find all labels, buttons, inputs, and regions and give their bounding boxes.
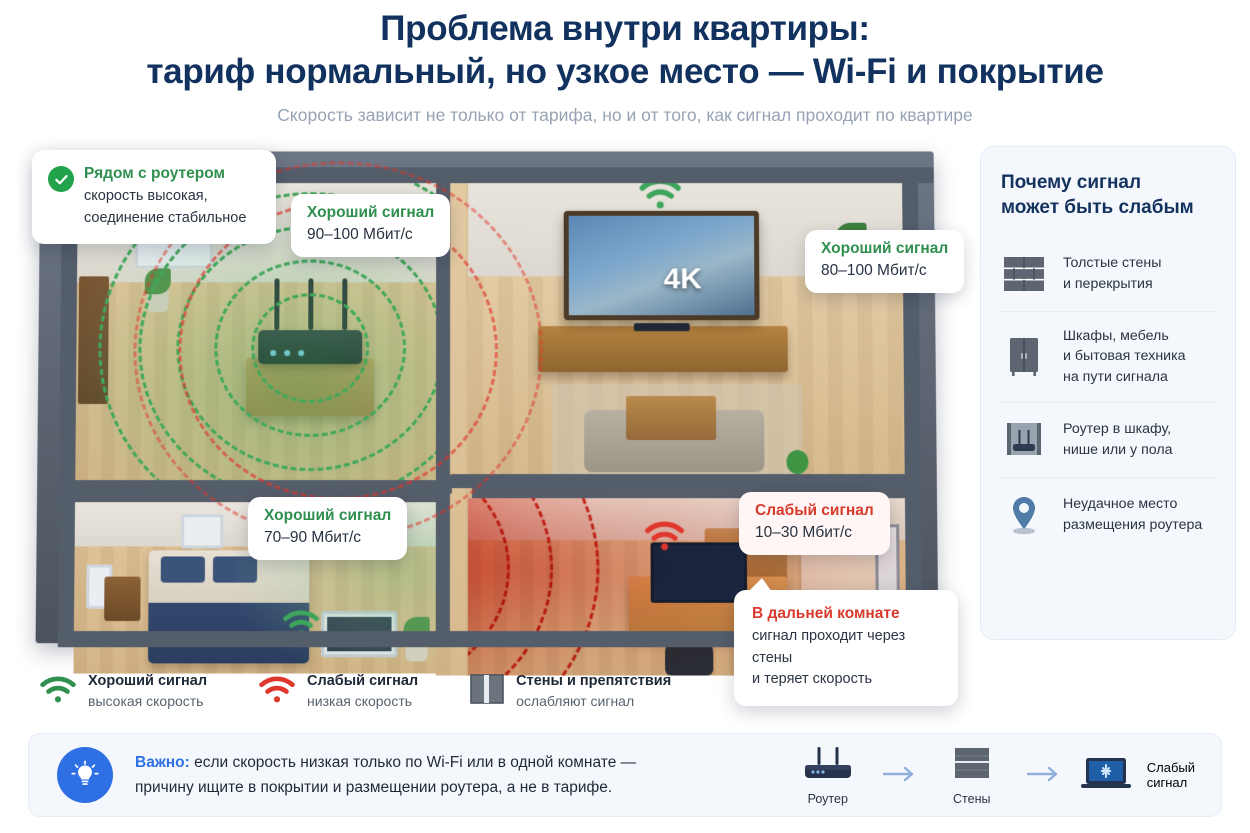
speed-chip-value: 80–100 Мбит/с: [821, 260, 948, 282]
legend-title: Слабый сигнал: [307, 672, 418, 692]
room-living: 4K: [468, 176, 909, 475]
footer-note-bold: Важно:: [135, 754, 190, 771]
legend-sub: ослабляют сигнал: [516, 692, 671, 711]
map-pin-icon: [1001, 492, 1047, 538]
entry-door: [78, 277, 109, 405]
wall-icon: [941, 743, 1003, 783]
speed-chip-router: Хороший сигнал 90–100 Мбит/с: [291, 194, 450, 257]
legend-item-good: Хороший сигнал высокая скорость: [40, 672, 207, 710]
wifi-green-icon: [40, 675, 76, 708]
reason-line: нише или у пола: [1063, 442, 1173, 458]
router-led: [284, 350, 290, 356]
callout-title: Рядом с роутером: [84, 163, 258, 185]
reason-line: размещения роутера: [1063, 517, 1202, 533]
pillow: [161, 557, 205, 583]
panel-title: Почему сигнал может быть слабым: [1001, 171, 1215, 220]
arrow-right-icon: [883, 763, 917, 787]
flow-label: Стены: [931, 792, 1013, 808]
speed-chip-value: 70–90 Мбит/с: [264, 527, 391, 549]
speed-chip-tv: Хороший сигнал 80–100 Мбит/с: [805, 230, 964, 293]
legend-sub: низкая скорость: [307, 692, 418, 711]
panel-title-line-1: Почему сигнал: [1001, 172, 1141, 193]
footer-note-bar: Важно: если скорость низкая только по Wi…: [28, 733, 1222, 817]
signal-flow-diagram: Роутер Стены: [787, 743, 1195, 808]
infographic-page: Проблема внутри квартиры: тариф нормальн…: [0, 0, 1250, 833]
wall-horizontal-right: [450, 474, 921, 488]
wifi-red-icon: [259, 675, 295, 708]
legend-text: Стены и препятствия ослабляют сигнал: [516, 672, 671, 710]
reason-thick-walls: Толстые стены и перекрытия: [1001, 237, 1215, 311]
router-in-cabinet-icon: [1001, 417, 1047, 463]
title-line-2: тариф нормальный, но узкое место — Wi-Fi…: [0, 51, 1250, 94]
callout-body-line: сигнал проходит через стены: [752, 626, 940, 670]
tv-screen: [569, 216, 755, 315]
callout-near-router: Рядом с роутером скорость высокая, соеди…: [32, 150, 276, 244]
footer-note-text: Важно: если скорость низкая только по Wi…: [135, 750, 636, 800]
main-area: 4K: [0, 142, 1250, 660]
callout-body-line: соединение стабильное: [84, 208, 258, 230]
reason-line: и перекрытия: [1063, 276, 1153, 292]
check-circle-icon: [48, 166, 74, 192]
lightbulb-icon: [57, 747, 113, 803]
panel-title-line-2: может быть слабым: [1001, 197, 1194, 218]
title-line-1: Проблема внутри квартиры:: [380, 9, 869, 48]
page-header: Проблема внутри квартиры: тариф нормальн…: [0, 0, 1250, 126]
router-table: [246, 358, 374, 416]
legend-text: Слабый сигнал низкая скорость: [307, 672, 418, 710]
tv-stand-foot: [634, 324, 690, 332]
legend-title: Хороший сигнал: [88, 672, 207, 692]
legend-text: Хороший сигнал высокая скорость: [88, 672, 207, 710]
speed-chip-label: Хороший сигнал: [264, 506, 391, 527]
speed-chip-bedroom: Хороший сигнал 70–90 Мбит/с: [248, 497, 407, 560]
cabinet-icon: [1001, 334, 1047, 380]
legend-sub: высокая скорость: [88, 692, 207, 711]
reason-router-in-cabinet: Роутер в шкафу, нише или у пола: [1001, 402, 1215, 477]
reason-line: Роутер в шкафу,: [1063, 421, 1171, 437]
reason-line: на пути сигнала: [1063, 369, 1168, 385]
router-icon: [797, 743, 859, 783]
arrow-right-icon: [1027, 763, 1061, 787]
callout-title: В дальней комнате: [752, 603, 940, 625]
nightstand: [104, 577, 141, 621]
wall-picture: [181, 515, 223, 549]
flow-label-line-2: сигнал: [1147, 775, 1195, 790]
brick-wall-icon: [1001, 251, 1047, 297]
laptop-loading-icon: [1075, 753, 1137, 793]
reason-furniture: Шкафы, мебель и бытовая техника на пути …: [1001, 311, 1215, 402]
speed-chip-label: Слабый сигнал: [755, 501, 874, 522]
flow-step-router: Роутер: [787, 743, 869, 808]
tv-set: [564, 211, 760, 320]
callout-tail: [748, 578, 772, 592]
router-antenna: [342, 279, 347, 331]
why-weak-panel: Почему сигнал может быть слабым Толстые …: [980, 146, 1236, 640]
callout-body-line: и теряет скорость: [752, 669, 940, 691]
callout-body-line: скорость высокая,: [84, 186, 258, 208]
tv-stand: [538, 327, 788, 373]
callout-far-room: В дальней комнате сигнал проходит через …: [734, 590, 958, 706]
reason-text: Шкафы, мебель и бытовая техника на пути …: [1063, 326, 1186, 388]
speed-chip-far-office: Слабый сигнал 10–30 Мбит/с: [739, 492, 890, 555]
page-title: Проблема внутри квартиры: тариф нормальн…: [0, 8, 1250, 93]
router-led: [298, 350, 304, 356]
flow-step-laptop: [1075, 753, 1137, 798]
coffee-table: [626, 396, 716, 440]
reason-line: Толстые стены: [1063, 255, 1161, 271]
wall-block-icon: [470, 674, 504, 709]
speed-chip-label: Хороший сигнал: [307, 203, 434, 224]
reason-text: Роутер в шкафу, нише или у пола: [1063, 419, 1173, 460]
wall-horizontal-left: [59, 480, 452, 494]
router-led: [270, 350, 276, 356]
router-antenna: [308, 279, 313, 331]
footer-note-line-2: причину ищите в покрытии и размещении ро…: [135, 779, 612, 796]
flow-label: Роутер: [787, 792, 869, 808]
page-subtitle: Скорость зависит не только от тарифа, но…: [0, 105, 1250, 126]
legend-item-weak: Слабый сигнал низкая скорость: [259, 672, 418, 710]
flow-step-walls: Стены: [931, 743, 1013, 808]
legend-item-walls: Стены и препятствия ослабляют сигнал: [470, 672, 671, 710]
flow-label-line-1: Слабый: [1147, 760, 1195, 775]
reason-text: Неудачное место размещения роутера: [1063, 494, 1202, 535]
wifi-red-icon: [644, 521, 684, 551]
flow-weak-label: Слабый сигнал: [1147, 760, 1195, 790]
speed-chip-value: 90–100 Мбит/с: [307, 224, 434, 246]
apartment-floor-plan: 4K: [16, 142, 956, 650]
router-device: [258, 331, 362, 365]
reason-line: и бытовая техника: [1063, 348, 1186, 364]
speed-chip-value: 10–30 Мбит/с: [755, 522, 874, 544]
legend-title: Стены и препятствия: [516, 672, 671, 692]
footer-note-line-1: если скорость низкая только по Wi-Fi или…: [190, 754, 636, 771]
speed-chip-label: Хороший сигнал: [821, 239, 948, 260]
legend: Хороший сигнал высокая скорость Слабый с…: [40, 672, 671, 710]
tv-4k-badge: 4K: [663, 263, 701, 297]
reason-line: Неудачное место: [1063, 496, 1177, 512]
router-antenna: [274, 279, 279, 331]
reason-text: Толстые стены и перекрытия: [1063, 253, 1161, 294]
reason-line: Шкафы, мебель: [1063, 328, 1169, 344]
reason-bad-placement: Неудачное место размещения роутера: [1001, 477, 1215, 552]
